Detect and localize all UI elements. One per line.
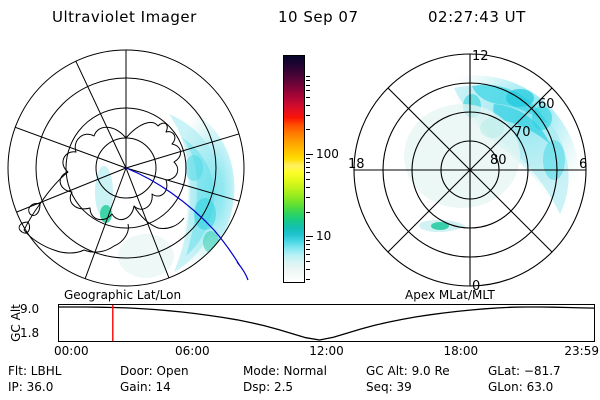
ring-label-60: 60 [538,97,555,112]
colorbar-minor-tick [306,162,310,163]
colorbar-minor-tick [306,187,310,188]
colorbar-minor-tick [306,269,310,270]
left-plot-caption: Geographic Lat/Lon [64,288,181,302]
apex-plot-canvas: 60 70 80 12 18 6 0 [344,44,596,296]
altitude-tick-high: 9.0 [20,302,39,316]
altitude-curve [58,307,595,340]
right-plot-caption: Apex MLat/MLT [405,288,495,302]
status-door: Door: Open [120,364,189,378]
status-glon: GLon: 63.0 [488,380,553,394]
status-footer: Flt: LBHL IP: 36.0 Door: Open Gain: 14 M… [0,362,600,400]
colorbar-minor-tick [306,97,310,98]
status-flt: Flt: LBHL [8,364,61,378]
colorbar-minor-tick [306,80,310,81]
geographic-plot-canvas [6,46,258,294]
status-gcalt: GC Alt: 9.0 Re [366,364,450,378]
colorbar-gradient [284,56,304,282]
colorbar: photon cm⁻²s⁻¹ 10010 [262,52,342,292]
altitude-curve-canvas [58,304,595,342]
time-tick-0000: 00:00 [54,344,89,358]
colorbar-minor-tick [306,167,310,168]
colorbar-minor-tick [306,212,310,213]
header-bar: Ultraviolet Imager 10 Sep 07 02:27:43 UT [0,6,600,32]
geographic-polar-plot[interactable] [6,46,258,294]
colorbar-tick-10 [306,236,313,237]
colorbar-minor-tick [306,179,310,180]
altitude-tick-low: 1.8 [20,326,39,340]
colorbar-tick-label-10: 10 [316,230,331,242]
status-gain: Gain: 14 [120,380,171,394]
colorbar-tick-label-100: 100 [316,148,339,160]
colorbar-minor-tick [306,85,310,86]
orbit-altitude-strip[interactable]: Geographic Lat/Lon Apex MLat/MLT GC Alt … [0,292,600,354]
time-tick-2359: 23:59 [564,344,599,358]
colorbar-minor-tick [306,197,310,198]
time-tick-1800: 18:00 [444,344,479,358]
colorbar-minor-tick [306,129,310,130]
colorbar-minor-tick [306,244,310,245]
observation-date: 10 Sep 07 [278,8,358,26]
ring-label-80: 80 [490,153,507,168]
colorbar-minor-tick [306,158,310,159]
apex-mlt-spokes [354,54,586,286]
colorbar-tick-100 [306,154,313,155]
colorbar-minor-tick [306,115,310,116]
colorbar-minor-tick [306,76,310,77]
time-tick-0600: 06:00 [175,344,210,358]
colorbar-minor-tick [306,172,310,173]
orbit-track-tail [237,262,248,280]
colorbar-minor-tick [306,261,310,262]
apex-polar-plot[interactable]: 60 70 80 12 18 6 0 [344,44,596,296]
instrument-title: Ultraviolet Imager [52,8,197,26]
colorbar-minor-tick [306,279,310,280]
status-seq: Seq: 39 [366,380,412,394]
status-mode: Mode: Normal [243,364,327,378]
colorbar-minor-tick [306,240,310,241]
colorbar-minor-tick [306,249,310,250]
mlt-label-12: 12 [472,49,489,64]
status-dsp: Dsp: 2.5 [243,380,293,394]
colorbar-box [283,55,305,283]
colorbar-minor-tick [306,90,310,91]
mlt-label-18: 18 [348,157,365,172]
colorbar-minor-tick [306,254,310,255]
mlt-label-6: 6 [579,157,587,172]
colorbar-minor-tick [306,105,310,106]
status-glat: GLat: −81.7 [488,364,561,378]
status-ip: IP: 36.0 [8,380,53,394]
ring-label-70: 70 [514,125,531,140]
time-tick-1200: 12:00 [309,344,344,358]
observation-time: 02:27:43 UT [428,8,526,26]
